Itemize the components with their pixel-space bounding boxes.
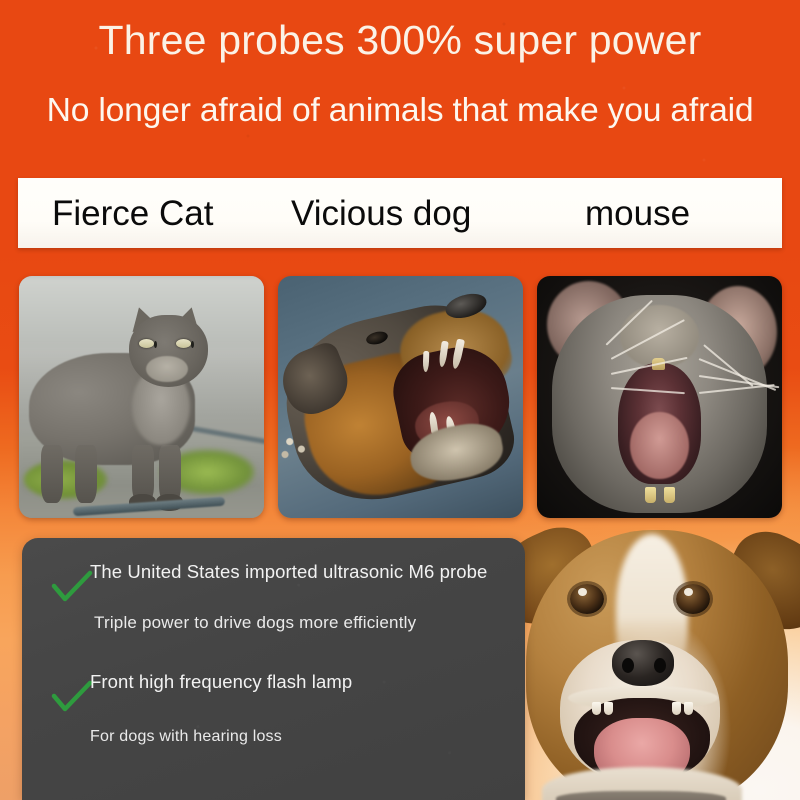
poster-subtitle: No longer afraid of animals that make yo… (0, 93, 800, 126)
promo-poster: Three probes 300% super power No longer … (0, 0, 800, 800)
photo-vicious-dog (278, 276, 523, 518)
poster-title: Three probes 300% super power (0, 20, 800, 61)
feature-heading: Front high frequency flash lamp (90, 672, 490, 693)
label-fierce-cat: Fierce Cat (52, 196, 213, 231)
feature-subtext: For dogs with hearing loss (90, 728, 282, 746)
check-icon (50, 570, 94, 604)
hero-terrier-photo (508, 512, 800, 800)
feature-panel: The United States imported ultrasonic M6… (22, 538, 525, 800)
animal-label-bar: Fierce Cat Vicious dog mouse (18, 178, 782, 248)
feature-heading: The United States imported ultrasonic M6… (90, 562, 490, 583)
feature-subtext: Triple power to drive dogs more efficien… (94, 614, 416, 633)
check-icon (50, 680, 94, 714)
label-mouse: mouse (585, 196, 690, 231)
photo-mouse (537, 276, 782, 518)
label-vicious-dog: Vicious dog (291, 196, 471, 231)
animal-photo-row (19, 276, 783, 518)
photo-fierce-cat (19, 276, 264, 518)
